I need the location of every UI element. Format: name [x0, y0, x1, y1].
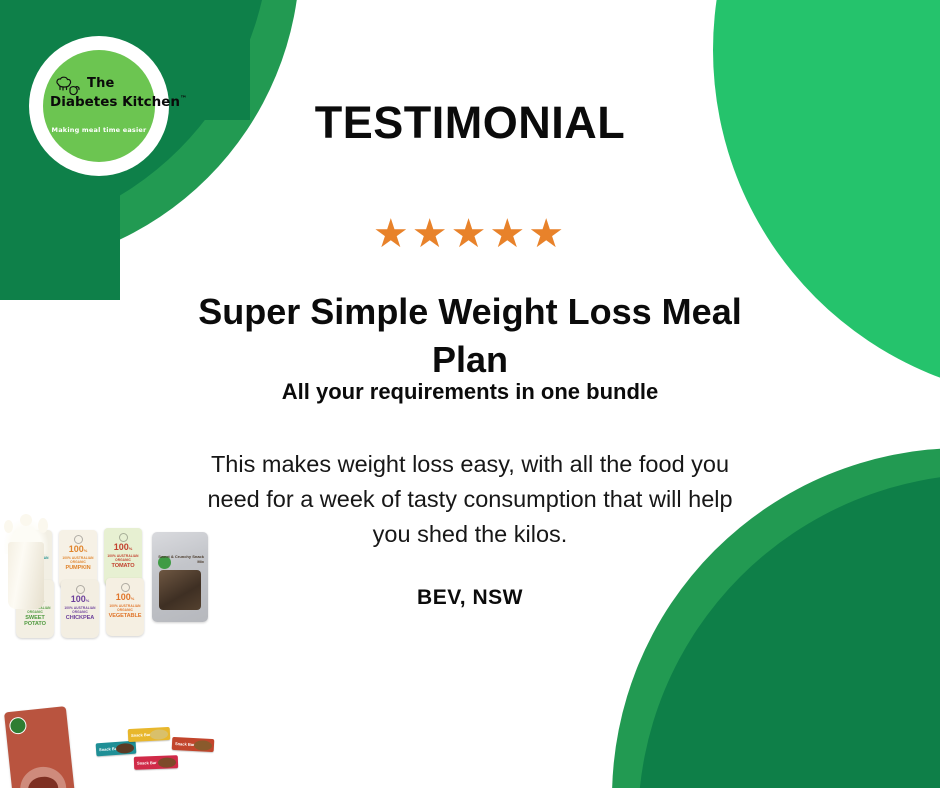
logo-trademark: ™ — [180, 95, 187, 103]
product-snack-bar-orange: Snack Bar — [172, 737, 215, 752]
sachet-name: TOMATO — [111, 564, 134, 570]
star-icon-2: ★ — [412, 214, 451, 254]
brand-logo: The Diabetes Kitchen™ Making meal time e… — [29, 36, 169, 176]
sachet-logo-dot — [74, 535, 83, 544]
sachet-name: PUMPKIN — [65, 566, 90, 572]
smoothie-droplet — [38, 518, 48, 533]
star-icon-5: ★ — [528, 214, 567, 254]
testimonial-card: The Diabetes Kitchen™ Making meal time e… — [0, 0, 940, 788]
sachet-name: SWEET POTATO — [16, 616, 54, 627]
snack-pouch-window — [159, 570, 201, 610]
product-bundle-image: 100% 100% AUSTRALIAN ORGANIC POTATO 100%… — [0, 514, 330, 788]
sachet-subtitle: 100% AUSTRALIAN ORGANIC — [61, 606, 99, 614]
snack-bar-label: Snack Bar — [175, 741, 195, 747]
sachet-subtitle: 100% AUSTRALIAN ORGANIC — [104, 554, 142, 562]
smoothie-droplet — [4, 520, 13, 533]
product-sachet-vegetable: 100% 100% AUSTRALIAN ORGANIC VEGETABLE — [106, 578, 144, 636]
star-rating: ★★★★★ — [250, 214, 690, 254]
snack-bar-photo — [116, 742, 135, 753]
snack-bar-label: Snack Bar — [137, 759, 157, 765]
sachet-logo-dot — [76, 585, 85, 594]
smoothie-droplet — [20, 514, 32, 526]
product-snack-bar-teal: Snack Bar — [96, 741, 137, 757]
page-title: TESTIMONIAL — [250, 97, 690, 149]
smoothie-glass-body — [8, 542, 44, 609]
snack-bar-photo — [158, 757, 176, 768]
snack-bar-photo — [150, 729, 168, 740]
sachet-name: CHICKPEA — [66, 616, 94, 622]
logo-word-the: The — [87, 76, 115, 91]
meal-pouch-badge — [9, 716, 28, 735]
sachet-name: VEGETABLE — [109, 614, 142, 620]
sachet-100-label: 100% — [71, 595, 90, 604]
snack-pouch-label: Sweet & Crunchy Snack Mix — [158, 554, 204, 564]
logo-word-diabetes-kitchen: Diabetes Kitchen™ — [50, 94, 150, 110]
sachet-logo-dot — [119, 533, 128, 542]
product-headline: Super Simple Weight Loss Meal Plan — [180, 288, 760, 384]
product-snack-bar-yellow: Snack Bar — [128, 727, 171, 742]
star-icon-3: ★ — [451, 214, 490, 254]
logo-inner-circle: The Diabetes Kitchen™ Making meal time e… — [43, 50, 155, 162]
sachet-100-label: 100% — [69, 545, 88, 554]
star-icon-1: ★ — [373, 214, 412, 254]
product-sachet-chickpea: 100% 100% AUSTRALIAN ORGANIC CHICKPEA — [61, 580, 99, 638]
product-snack-bar-pink: Snack Bar — [134, 755, 178, 770]
sachet-100-label: 100% — [116, 593, 135, 602]
product-snack-pouch: Sweet & Crunchy Snack Mix — [152, 532, 208, 622]
sachet-logo-dot — [121, 583, 130, 592]
top-right-fill — [900, 0, 940, 120]
meal-pouch-food-photo — [18, 765, 68, 788]
product-subheadline: All your requirements in one bundle — [180, 379, 760, 405]
product-meal-pouch-back-left — [4, 706, 78, 788]
snack-bar-label: Snack Bar — [131, 731, 151, 737]
sachet-100-label: 100% — [114, 543, 133, 552]
star-icon-4: ★ — [489, 214, 528, 254]
sachet-subtitle: 100% AUSTRALIAN ORGANIC — [106, 604, 144, 612]
sachet-subtitle: 100% AUSTRALIAN ORGANIC — [59, 556, 97, 564]
logo-tagline: Making meal time easier — [43, 126, 155, 134]
snack-bar-photo — [194, 740, 212, 751]
